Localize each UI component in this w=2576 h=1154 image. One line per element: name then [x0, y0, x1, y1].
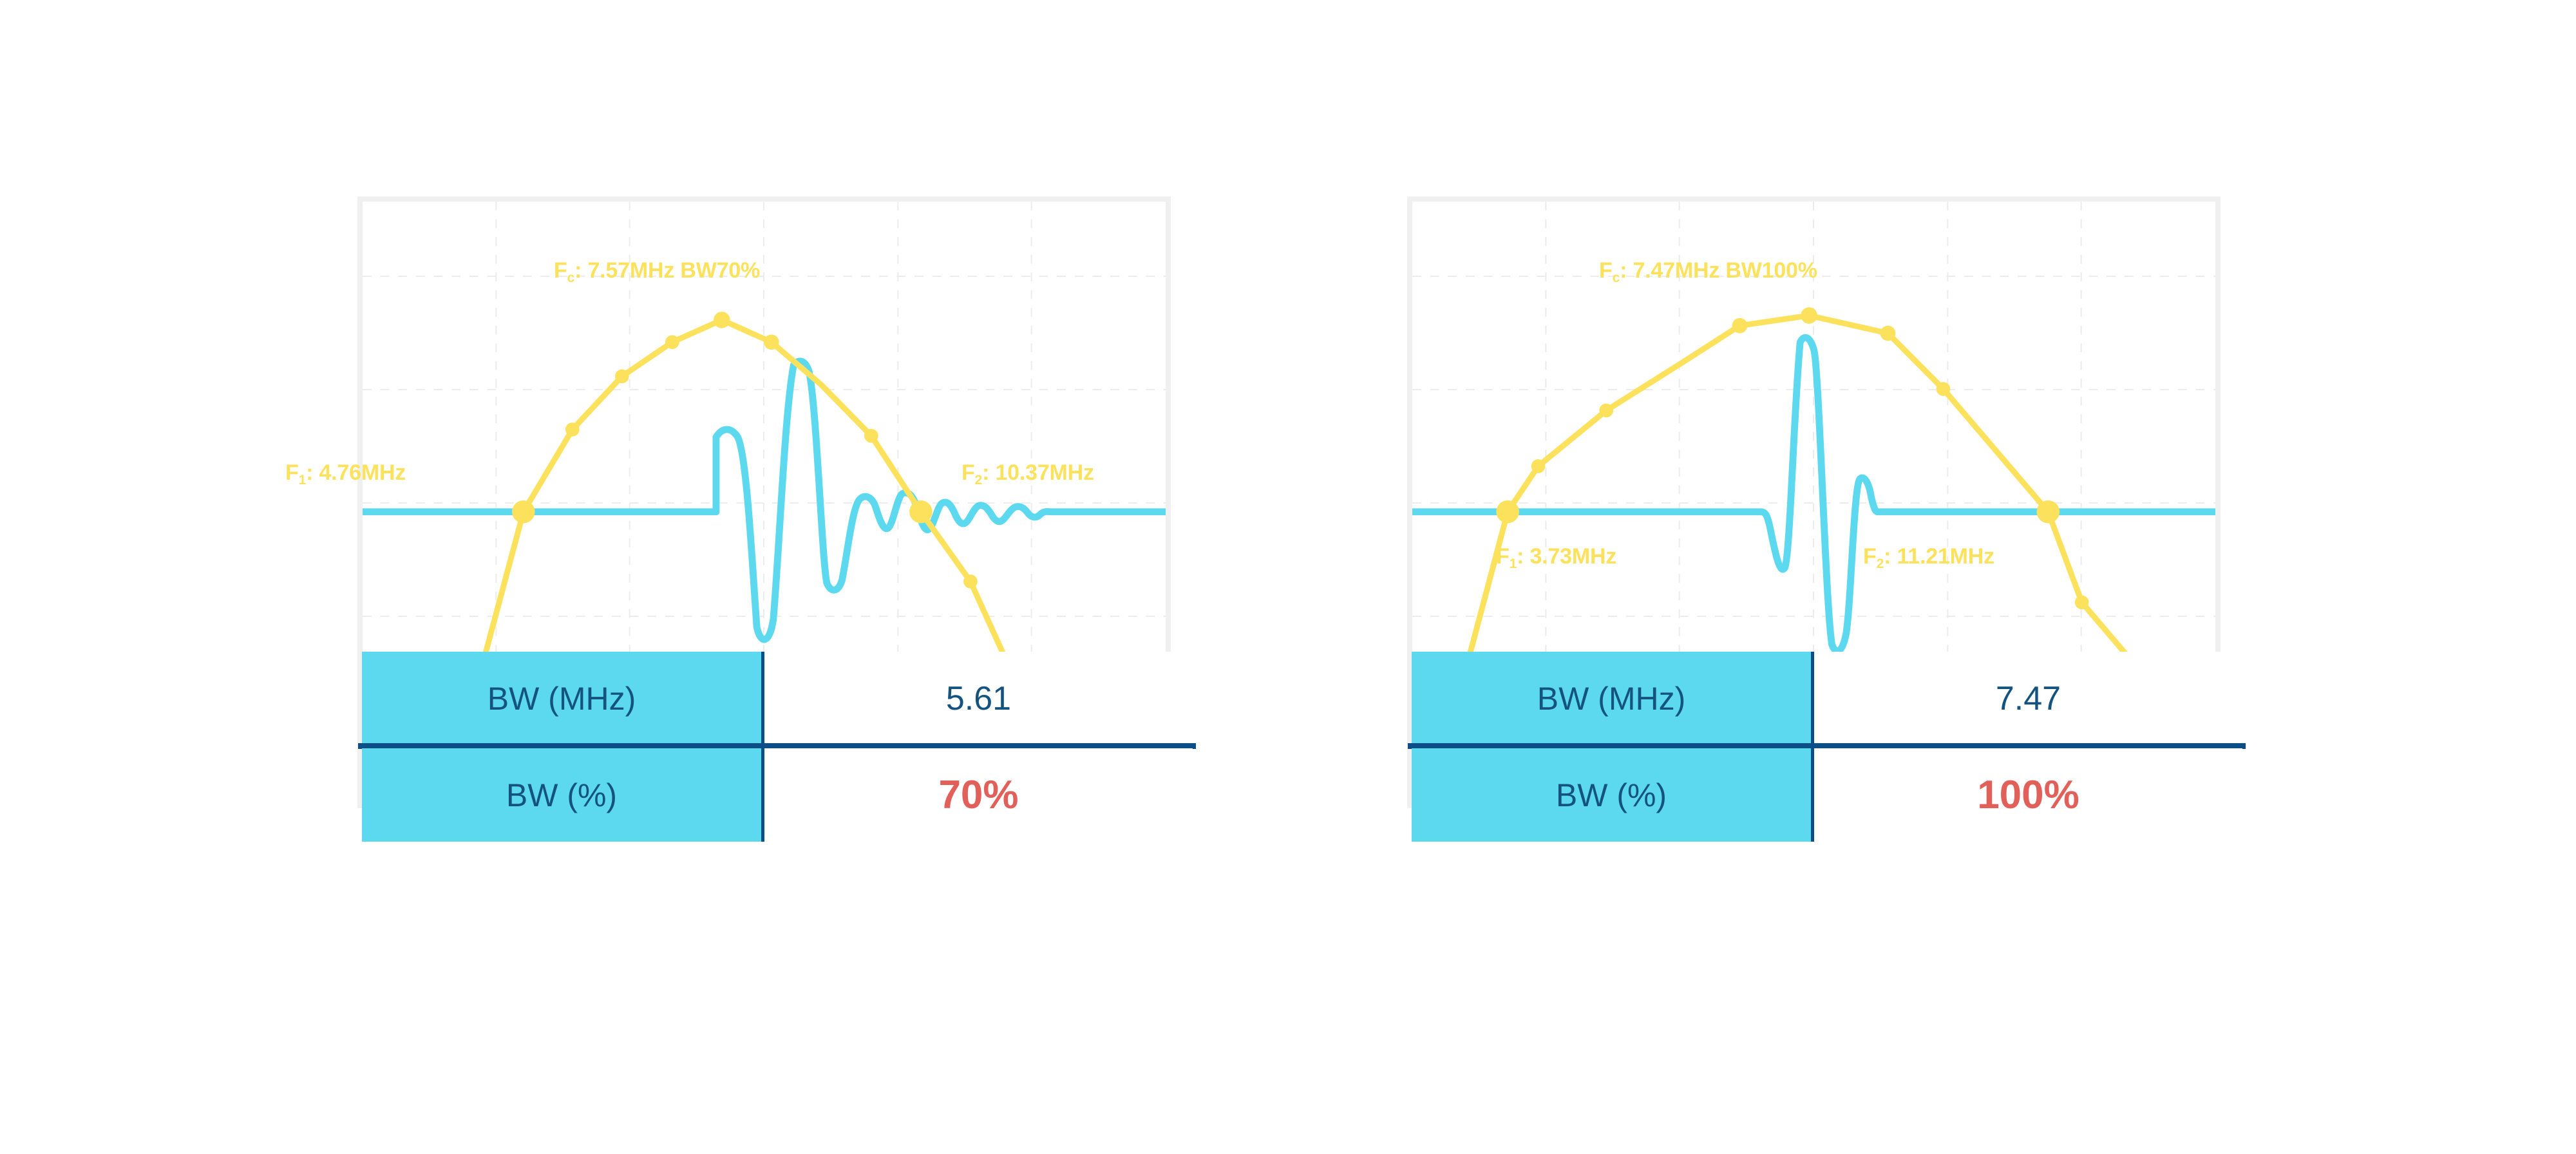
row-label-text: BW (%): [506, 777, 617, 814]
bandwidth-table-left: BW (MHz) 5.61 BW (%) 70%: [362, 652, 1193, 845]
label-upper-cutoff-right: F2: 11.21MHz: [1863, 544, 1994, 569]
label-center-frequency-left: Fc: 7.57MHz BW70%: [554, 258, 760, 283]
table-row: BW (%) 100%: [1412, 748, 2242, 842]
row-label-bw-pct-left: BW (%): [362, 748, 764, 842]
table-row: BW (%) 70%: [362, 748, 1193, 842]
label-lower-cutoff-left: F1: 4.76MHz: [285, 460, 406, 486]
row-value-bw-mhz-right: 7.47: [1814, 652, 2242, 745]
row-value-text: 100%: [1977, 772, 2079, 818]
panel-right: Fc: 7.47MHz BW100% F1: 3.73MHz F2: 11.21…: [1320, 0, 2415, 1154]
cutoff-marker-f2-left: [909, 500, 933, 523]
cutoff-marker-f1-left: [512, 500, 535, 523]
row-label-text: BW (%): [1556, 777, 1667, 814]
label-center-frequency-right: Fc: 7.47MHz BW100%: [1599, 258, 1817, 283]
row-value-bw-pct-right: 100%: [1814, 748, 2242, 842]
pulse-waveform-right: [1412, 337, 2215, 651]
panel-left: Fc: 7.57MHz BW70% F1: 4.76MHz F2: 10.37M…: [270, 0, 1365, 1154]
row-value-text: 5.61: [946, 679, 1011, 718]
row-label-bw-mhz-left: BW (MHz): [362, 652, 764, 745]
cutoff-marker-f2-right: [2037, 500, 2060, 523]
label-lower-cutoff-right: F1: 3.73MHz: [1496, 544, 1616, 569]
label-upper-cutoff-left: F2: 10.37MHz: [961, 460, 1094, 486]
table-row: BW (MHz) 5.61: [362, 652, 1193, 745]
bandwidth-table-right: BW (MHz) 7.47 BW (%) 100%: [1412, 652, 2242, 845]
row-value-bw-pct-left: 70%: [764, 748, 1193, 842]
row-value-text: 70%: [938, 772, 1018, 818]
table-row: BW (MHz) 7.47: [1412, 652, 2242, 745]
row-value-text: 7.47: [1996, 679, 2061, 718]
row-label-bw-pct-right: BW (%): [1412, 748, 1814, 842]
row-value-bw-mhz-left: 5.61: [764, 652, 1193, 745]
row-label-text: BW (MHz): [488, 680, 636, 717]
row-label-text: BW (MHz): [1537, 680, 1686, 717]
cutoff-marker-f1-right: [1496, 500, 1519, 523]
row-label-bw-mhz-right: BW (MHz): [1412, 652, 1814, 745]
